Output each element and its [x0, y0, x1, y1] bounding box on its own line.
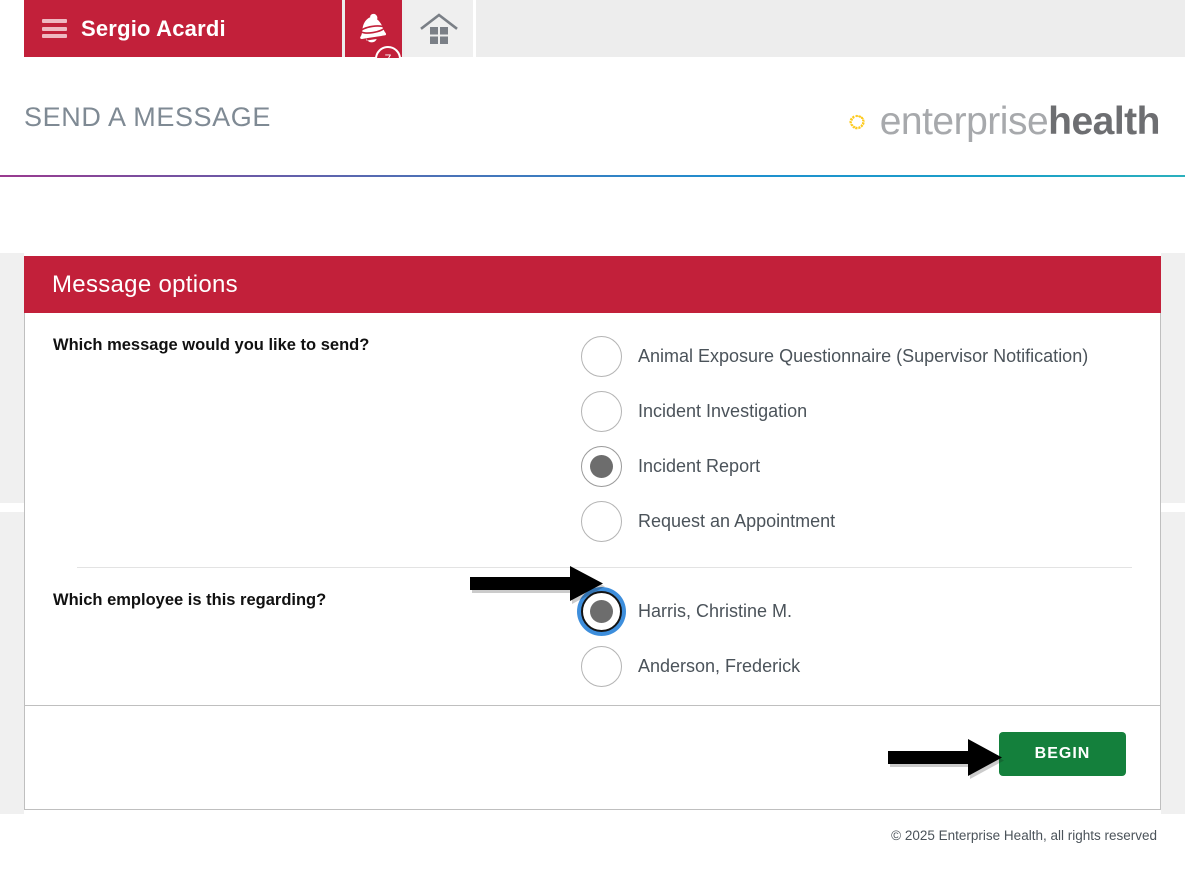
right-gutter-bottom [1161, 512, 1185, 814]
question-label-column: Which employee is this regarding? [25, 568, 581, 712]
radio-label[interactable]: Incident Investigation [638, 401, 807, 422]
question-block-message-type: Which message would you like to send? An… [25, 313, 1160, 567]
question-label: Which employee is this regarding? [53, 591, 581, 610]
radio-button-incident-investigation[interactable] [581, 391, 622, 432]
bell-icon [357, 12, 391, 46]
page-title: SEND A MESSAGE [24, 102, 271, 133]
question-label: Which message would you like to send? [53, 336, 581, 355]
panel-body: Which message would you like to send? An… [24, 313, 1161, 713]
logo-text-health: health [1048, 100, 1160, 143]
user-name-label: Sergio Acardi [81, 16, 226, 42]
topbar-left-spacer [0, 0, 24, 57]
right-gutter-top [1161, 253, 1185, 503]
radio-label[interactable]: Request an Appointment [638, 511, 835, 532]
header-gradient-divider [0, 175, 1185, 177]
left-gutter-bottom [0, 512, 24, 814]
question-label-column: Which message would you like to send? [25, 313, 581, 567]
radio-option-row[interactable]: Harris, Christine M. [581, 584, 1160, 639]
panel-title: Message options [52, 271, 238, 299]
radio-button-anderson-frederick[interactable] [581, 646, 622, 687]
user-menu-tab[interactable]: Sergio Acardi [24, 0, 342, 57]
footer: © 2025 Enterprise Health, all rights res… [0, 828, 1185, 843]
radio-label[interactable]: Incident Report [638, 456, 760, 477]
radio-option-row[interactable]: Request an Appointment [581, 494, 1160, 549]
radio-button-animal-exposure-questionnaire[interactable] [581, 336, 622, 377]
logo-wordmark: enterprisehealth [880, 100, 1160, 144]
radio-label[interactable]: Anderson, Frederick [638, 656, 800, 677]
logo-text-enterprise: enterprise [880, 100, 1048, 143]
radio-button-request-an-appointment[interactable] [581, 501, 622, 542]
radio-option-row[interactable]: Anderson, Frederick [581, 639, 1160, 694]
tab-separator [473, 0, 476, 57]
action-panel: BEGIN [24, 705, 1161, 810]
radio-button-incident-report[interactable] [581, 446, 622, 487]
copyright-text: © 2025 Enterprise Health, all rights res… [891, 828, 1157, 843]
radio-button-harris-christine-m[interactable] [581, 591, 622, 632]
begin-button[interactable]: BEGIN [999, 732, 1126, 776]
question-options-column: Harris, Christine M. Anderson, Frederick [581, 568, 1160, 712]
home-tab[interactable] [405, 0, 473, 57]
question-block-employee: Which employee is this regarding? Harris… [25, 568, 1160, 712]
radio-option-row[interactable]: Incident Report [581, 439, 1160, 494]
radio-label[interactable]: Animal Exposure Questionnaire (Superviso… [638, 346, 1088, 367]
enterprise-health-logo: enterprisehealth [848, 86, 1160, 158]
radio-label[interactable]: Harris, Christine M. [638, 601, 792, 622]
panel-header: Message options [24, 256, 1161, 313]
hamburger-icon[interactable] [42, 19, 67, 38]
question-options-column: Animal Exposure Questionnaire (Superviso… [581, 313, 1160, 567]
sunburst-logo-icon [848, 86, 866, 158]
radio-option-row[interactable]: Animal Exposure Questionnaire (Superviso… [581, 329, 1160, 384]
message-options-panel: Message options Which message would you … [24, 256, 1161, 713]
home-icon [419, 12, 459, 46]
page-header: SEND A MESSAGE enterprisehealth [0, 58, 1185, 171]
radio-option-row[interactable]: Incident Investigation [581, 384, 1160, 439]
left-gutter-top [0, 253, 24, 503]
top-navigation-bar: Sergio Acardi 7 [0, 0, 1185, 58]
